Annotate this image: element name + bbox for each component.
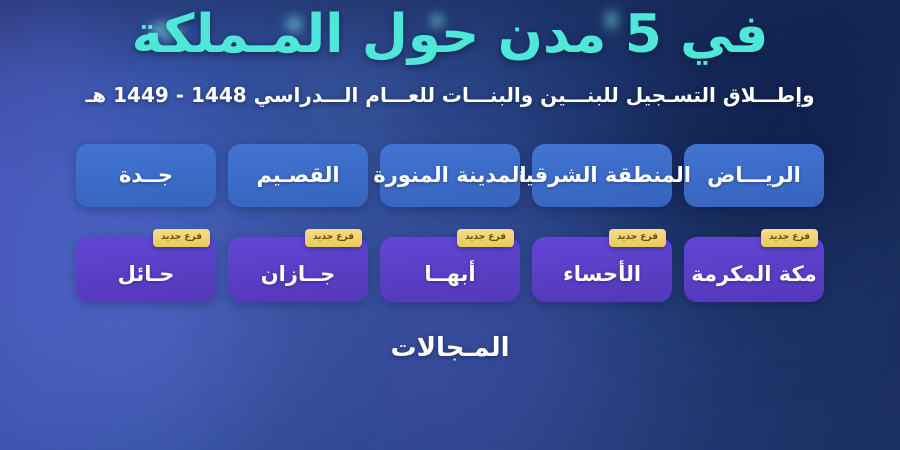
city-card-qassim[interactable]: القصـيم: [228, 144, 368, 207]
primary-city-row: الريـــاض المنطقة الشرقية المدينة المنور…: [0, 144, 900, 207]
city-card-riyadh[interactable]: الريـــاض: [684, 144, 824, 207]
city-card-eastern-province[interactable]: المنطقة الشرقية: [532, 144, 672, 207]
city-card-label: جــازان: [261, 262, 336, 286]
city-card-label: الأحساء: [563, 262, 641, 286]
page-title: في 5 مدن حول المـملكة: [132, 4, 769, 67]
new-branch-badge: فرع جديد: [609, 229, 666, 247]
city-card-hail[interactable]: فرع جديد حـائل: [76, 237, 216, 302]
banner-content: في 5 مدن حول المـملكة وإطـــلاق التسـجيل…: [0, 0, 900, 450]
city-card-label: المدينة المنورة: [373, 163, 526, 187]
city-card-al-ahsa[interactable]: فرع جديد الأحساء: [532, 237, 672, 302]
city-card-label: حـائل: [118, 262, 175, 286]
city-card-label: القصـيم: [256, 163, 339, 187]
promotional-banner: في 5 مدن حول المـملكة وإطـــلاق التسـجيل…: [0, 0, 900, 450]
city-card-label: أبهــا: [424, 262, 475, 286]
city-card-label: المنطقة الشرقية: [513, 163, 691, 187]
city-card-jeddah[interactable]: جــدة: [76, 144, 216, 207]
new-branch-badge: فرع جديد: [305, 229, 362, 247]
city-card-label: مكة المكرمة: [691, 262, 816, 286]
city-card-label: جــدة: [119, 163, 173, 187]
city-card-abha[interactable]: فرع جديد أبهــا: [380, 237, 520, 302]
new-branch-badge: فرع جديد: [153, 229, 210, 247]
new-branch-badge: فرع جديد: [761, 229, 818, 247]
city-card-jazan[interactable]: فرع جديد جــازان: [228, 237, 368, 302]
new-branch-badge: فرع جديد: [457, 229, 514, 247]
city-card-label: الريـــاض: [707, 163, 801, 187]
secondary-city-row: فرع جديد مكة المكرمة فرع جديد الأحساء فر…: [0, 237, 900, 302]
banner-subtitle: وإطـــلاق التسـجيل للبنـــين والبنـــات …: [85, 83, 814, 107]
city-card-makkah[interactable]: فرع جديد مكة المكرمة: [684, 237, 824, 302]
city-card-madinah[interactable]: المدينة المنورة: [380, 144, 520, 207]
section-heading-fields: المـجالات: [391, 333, 510, 363]
